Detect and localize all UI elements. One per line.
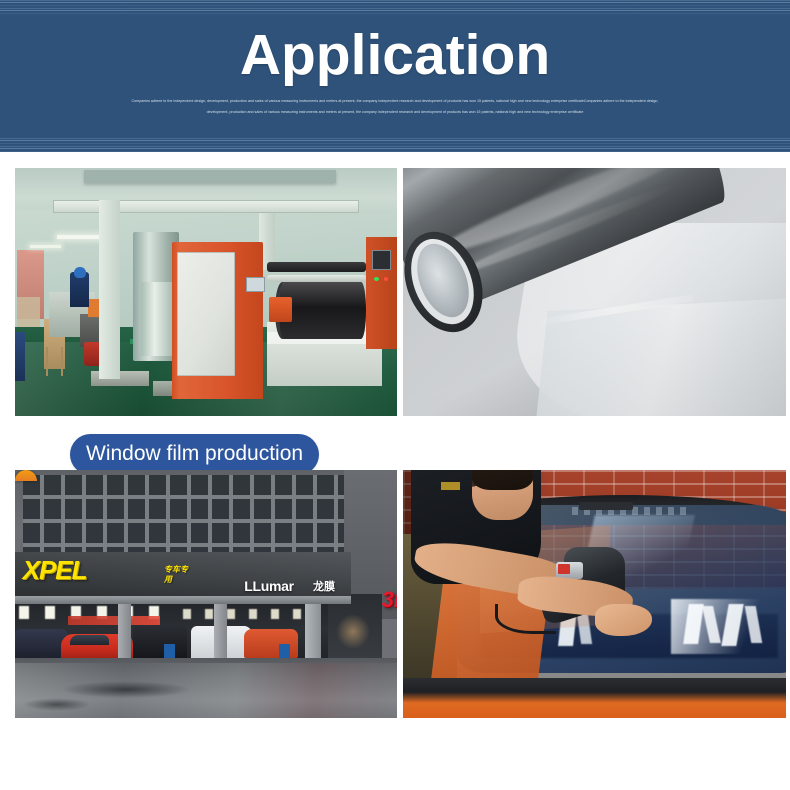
sign-xpel: XPEL <box>23 557 87 583</box>
sign-xpel-chinese: 专车专用 <box>164 565 195 585</box>
card-window-film-store[interactable]: XPEL 专车专用 LLumar 龙膜 3M WRAP FILM 1080 MI… <box>15 470 397 718</box>
llumar-arc-icon <box>15 470 37 481</box>
banner-top-stripes <box>0 0 790 15</box>
storefront-signage: XPEL 专车专用 LLumar 龙膜 3M WRAP FILM 1080 MI… <box>15 470 397 718</box>
application-card-grid: Window film production Window film whole… <box>0 152 790 790</box>
card-window-film-production[interactable]: Window film production <box>15 168 397 416</box>
banner-description-line-1: Companies adhere to the independent desi… <box>62 98 728 105</box>
card-window-film-wholesales[interactable]: Window film wholesales <box>403 168 786 416</box>
banner-description: Companies adhere to the independent desi… <box>62 98 728 120</box>
photo-window-film-production <box>15 168 397 416</box>
page-header-banner: Application Companies adhere to the inde… <box>0 0 790 152</box>
sign-llumar: LLumar <box>244 579 294 593</box>
banner-bottom-stripes <box>0 138 790 152</box>
banner-description-line-2: development, production and sales of var… <box>62 109 728 116</box>
sign-3m: 3M <box>382 589 397 611</box>
photo-window-film-wholesales <box>403 168 786 416</box>
card-label-window-film-production[interactable]: Window film production <box>70 434 319 475</box>
card-car-beauty-4s-shop[interactable]: Car beauty 4S shop <box>403 470 786 718</box>
photo-window-film-store: XPEL 专车专用 LLumar 龙膜 3M WRAP FILM 1080 MI… <box>15 470 397 718</box>
page-title: Application <box>0 26 790 86</box>
application-page: Application Companies adhere to the inde… <box>0 0 790 790</box>
photo-car-beauty-4s-shop <box>403 470 786 718</box>
sign-llumar-chinese: 龙膜 <box>313 582 335 593</box>
